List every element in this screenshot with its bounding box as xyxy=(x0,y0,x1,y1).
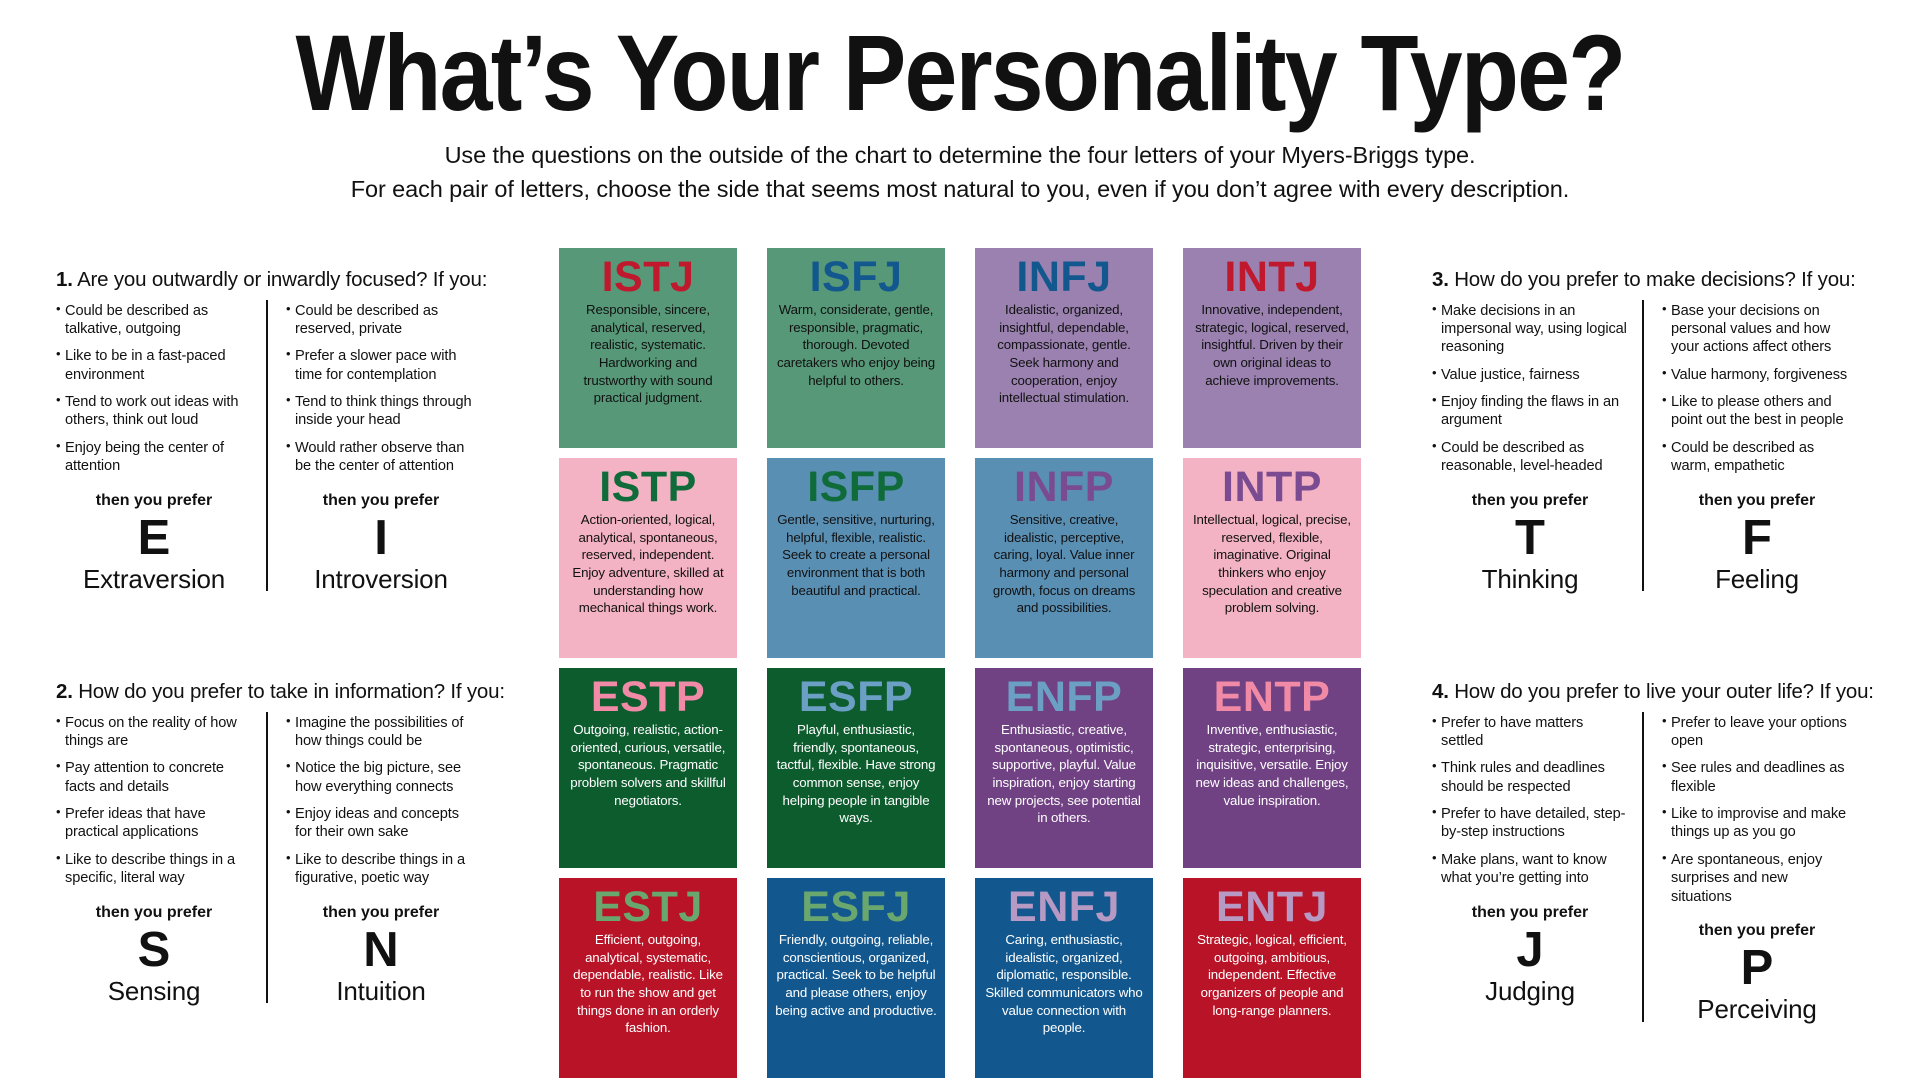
list-item: Like to be in a fast-paced environment xyxy=(56,347,252,384)
preference-word: Intuition xyxy=(286,977,476,1006)
bullet-list: Could be described as talkative, outgoin… xyxy=(56,302,252,476)
type-code: INTP xyxy=(1222,466,1322,510)
column-divider xyxy=(266,712,268,1004)
type-description: Innovative, independent, strategic, logi… xyxy=(1191,301,1353,389)
question-block-2: 2. How do you prefer to take in informat… xyxy=(56,680,476,1005)
type-description: Idealistic, organized, insightful, depen… xyxy=(983,301,1145,407)
bullet-list: Could be described as reserved, private … xyxy=(286,302,476,476)
preference-letter: T xyxy=(1432,514,1628,563)
question-number: 2. xyxy=(56,680,73,703)
list-item: Like to describe things in a specific, l… xyxy=(56,851,252,888)
bullet-list: Make decisions in an impersonal way, usi… xyxy=(1432,302,1628,476)
chart-header: What’s Your Personality Type? Use the qu… xyxy=(0,0,1920,206)
type-description: Caring, enthusiastic, idealistic, organi… xyxy=(983,931,1145,1037)
question-heading: 2. How do you prefer to take in informat… xyxy=(56,680,476,705)
question-heading: 3. How do you prefer to make decisions? … xyxy=(1432,268,1852,293)
type-code: ESFP xyxy=(799,676,913,720)
type-description: Gentle, sensitive, nurturing, helpful, f… xyxy=(775,511,937,599)
question-text: How do you prefer to live your outer lif… xyxy=(1454,680,1874,703)
preference-word: Thinking xyxy=(1432,565,1628,594)
type-description: Intellectual, logical, precise, reserved… xyxy=(1191,511,1353,617)
type-code: ESFJ xyxy=(801,886,911,930)
question-column-left[interactable]: Make decisions in an impersonal way, usi… xyxy=(1432,302,1642,594)
list-item: Like to please others and point out the … xyxy=(1662,393,1852,430)
question-number: 3. xyxy=(1432,268,1449,291)
type-card-isfj[interactable]: ISFJWarm, considerate, gentle, responsib… xyxy=(767,248,945,448)
personality-type-grid: ISTJResponsible, sincere, analytical, re… xyxy=(559,248,1361,1078)
question-number: 1. xyxy=(56,268,73,291)
preference-letter: S xyxy=(56,926,252,975)
type-description: Strategic, logical, efficient, outgoing,… xyxy=(1191,931,1353,1019)
question-text: Are you outwardly or inwardly focused? I… xyxy=(77,268,487,291)
type-code: ISTP xyxy=(599,466,697,510)
list-item: Prefer to have detailed, step-by-step in… xyxy=(1432,805,1628,842)
type-description: Responsible, sincere, analytical, reserv… xyxy=(567,301,729,407)
type-description: Outgoing, realistic, action-oriented, cu… xyxy=(567,721,729,809)
then-you-prefer-label: then you prefer xyxy=(286,492,476,510)
then-you-prefer-label: then you prefer xyxy=(1662,492,1852,510)
question-columns: Focus on the reality of how things are P… xyxy=(56,714,476,1006)
list-item: See rules and deadlines as flexible xyxy=(1662,759,1852,796)
question-column-right[interactable]: Prefer to leave your options open See ru… xyxy=(1642,714,1852,1024)
list-item: Prefer a slower pace with time for conte… xyxy=(286,347,476,384)
list-item: Think rules and deadlines should be resp… xyxy=(1432,759,1628,796)
question-block-1: 1. Are you outwardly or inwardly focused… xyxy=(56,268,476,593)
then-you-prefer-label: then you prefer xyxy=(286,904,476,922)
type-card-esfj[interactable]: ESFJFriendly, outgoing, reliable, consci… xyxy=(767,878,945,1078)
list-item: Value justice, fairness xyxy=(1432,366,1628,384)
preference-word: Feeling xyxy=(1662,565,1852,594)
type-card-enfj[interactable]: ENFJCaring, enthusiastic, idealistic, or… xyxy=(975,878,1153,1078)
question-heading: 4. How do you prefer to live your outer … xyxy=(1432,680,1852,705)
list-item: Prefer ideas that have practical applica… xyxy=(56,805,252,842)
list-item: Could be described as reserved, private xyxy=(286,302,476,339)
column-divider xyxy=(1642,300,1644,592)
type-code: INFJ xyxy=(1016,256,1111,300)
question-column-left[interactable]: Prefer to have matters settled Think rul… xyxy=(1432,714,1642,1024)
bullet-list: Base your decisions on personal values a… xyxy=(1662,302,1852,476)
list-item: Pay attention to concrete facts and deta… xyxy=(56,759,252,796)
list-item: Tend to think things through inside your… xyxy=(286,393,476,430)
preference-word: Judging xyxy=(1432,977,1628,1006)
question-column-right[interactable]: Could be described as reserved, private … xyxy=(266,302,476,594)
type-description: Friendly, outgoing, reliable, conscienti… xyxy=(775,931,937,1019)
then-you-prefer-label: then you prefer xyxy=(1432,492,1628,510)
list-item: Focus on the reality of how things are xyxy=(56,714,252,751)
type-card-infp[interactable]: INFPSensitive, creative, idealistic, per… xyxy=(975,458,1153,658)
question-text: How do you prefer to make decisions? If … xyxy=(1454,268,1855,291)
type-code: INTJ xyxy=(1224,256,1319,300)
list-item: Enjoy finding the flaws in an argument xyxy=(1432,393,1628,430)
type-card-istj[interactable]: ISTJResponsible, sincere, analytical, re… xyxy=(559,248,737,448)
then-you-prefer-label: then you prefer xyxy=(56,904,252,922)
preference-word: Sensing xyxy=(56,977,252,1006)
list-item: Could be described as talkative, outgoin… xyxy=(56,302,252,339)
then-you-prefer-label: then you prefer xyxy=(56,492,252,510)
then-you-prefer-label: then you prefer xyxy=(1432,904,1628,922)
list-item: Tend to work out ideas with others, thin… xyxy=(56,393,252,430)
list-item: Value harmony, forgiveness xyxy=(1662,366,1852,384)
list-item: Base your decisions on personal values a… xyxy=(1662,302,1852,357)
list-item: Notice the big picture, see how everythi… xyxy=(286,759,476,796)
list-item: Like to describe things in a figurative,… xyxy=(286,851,476,888)
type-description: Sensitive, creative, idealistic, percept… xyxy=(983,511,1145,617)
preference-letter: P xyxy=(1662,944,1852,993)
type-description: Action-oriented, logical, analytical, sp… xyxy=(567,511,729,617)
type-description: Enthusiastic, creative, spontaneous, opt… xyxy=(983,721,1145,827)
type-card-estp[interactable]: ESTPOutgoing, realistic, action-oriented… xyxy=(559,668,737,868)
type-code: ENFP xyxy=(1006,676,1123,720)
question-block-3: 3. How do you prefer to make decisions? … xyxy=(1432,268,1852,593)
type-card-intp[interactable]: INTPIntellectual, logical, precise, rese… xyxy=(1183,458,1361,658)
then-you-prefer-label: then you prefer xyxy=(1662,922,1852,940)
list-item: Enjoy ideas and concepts for their own s… xyxy=(286,805,476,842)
subtitle-line-2: For each pair of letters, choose the sid… xyxy=(0,173,1920,206)
list-item: Prefer to leave your options open xyxy=(1662,714,1852,751)
question-column-right[interactable]: Imagine the possibilities of how things … xyxy=(266,714,476,1006)
list-item: Make plans, want to know what you’re get… xyxy=(1432,851,1628,888)
question-text: How do you prefer to take in information… xyxy=(78,680,505,703)
bullet-list: Prefer to have matters settled Think rul… xyxy=(1432,714,1628,888)
question-block-4: 4. How do you prefer to live your outer … xyxy=(1432,680,1852,1024)
preference-word: Extraversion xyxy=(56,565,252,594)
preference-letter: J xyxy=(1432,926,1628,975)
list-item: Prefer to have matters settled xyxy=(1432,714,1628,751)
column-divider xyxy=(266,300,268,592)
type-card-entj[interactable]: ENTJStrategic, logical, efficient, outgo… xyxy=(1183,878,1361,1078)
question-number: 4. xyxy=(1432,680,1449,703)
type-description: Efficient, outgoing, analytical, systema… xyxy=(567,931,729,1037)
question-columns: Make decisions in an impersonal way, usi… xyxy=(1432,302,1852,594)
question-column-left[interactable]: Focus on the reality of how things are P… xyxy=(56,714,266,1006)
type-card-estj[interactable]: ESTJEfficient, outgoing, analytical, sys… xyxy=(559,878,737,1078)
type-card-entp[interactable]: ENTPInventive, enthusiastic, strategic, … xyxy=(1183,668,1361,868)
type-code: ENTP xyxy=(1214,676,1331,720)
list-item: Make decisions in an impersonal way, usi… xyxy=(1432,302,1628,357)
type-card-intj[interactable]: INTJInnovative, independent, strategic, … xyxy=(1183,248,1361,448)
type-code: ISFP xyxy=(807,466,905,510)
bullet-list: Imagine the possibilities of how things … xyxy=(286,714,476,888)
type-description: Warm, considerate, gentle, responsible, … xyxy=(775,301,937,389)
preference-letter: I xyxy=(286,514,476,563)
bullet-list: Prefer to leave your options open See ru… xyxy=(1662,714,1852,906)
preference-word: Introversion xyxy=(286,565,476,594)
type-code: ISFJ xyxy=(810,256,903,300)
preference-letter: N xyxy=(286,926,476,975)
list-item: Enjoy being the center of attention xyxy=(56,439,252,476)
column-divider xyxy=(1642,712,1644,1022)
question-column-right[interactable]: Base your decisions on personal values a… xyxy=(1642,302,1852,594)
type-code: ENTJ xyxy=(1216,886,1328,930)
type-card-infj[interactable]: INFJIdealistic, organized, insightful, d… xyxy=(975,248,1153,448)
list-item: Like to improvise and make things up as … xyxy=(1662,805,1852,842)
list-item: Would rather observe than be the center … xyxy=(286,439,476,476)
question-columns: Could be described as talkative, outgoin… xyxy=(56,302,476,594)
page-title: What’s Your Personality Type? xyxy=(115,0,1805,129)
personality-type-chart: What’s Your Personality Type? Use the qu… xyxy=(0,0,1920,1080)
list-item: Could be described as warm, empathetic xyxy=(1662,439,1852,476)
type-card-istp[interactable]: ISTPAction-oriented, logical, analytical… xyxy=(559,458,737,658)
type-card-enfp[interactable]: ENFPEnthusiastic, creative, spontaneous,… xyxy=(975,668,1153,868)
type-card-esfp[interactable]: ESFPPlayful, enthusiastic, friendly, spo… xyxy=(767,668,945,868)
type-code: ESTJ xyxy=(593,886,703,930)
list-item: Could be described as reasonable, level-… xyxy=(1432,439,1628,476)
question-heading: 1. Are you outwardly or inwardly focused… xyxy=(56,268,476,293)
question-columns: Prefer to have matters settled Think rul… xyxy=(1432,714,1852,1024)
type-code: ESTP xyxy=(591,676,705,720)
type-card-isfp[interactable]: ISFPGentle, sensitive, nurturing, helpfu… xyxy=(767,458,945,658)
bullet-list: Focus on the reality of how things are P… xyxy=(56,714,252,888)
list-item: Are spontaneous, enjoy surprises and new… xyxy=(1662,851,1852,906)
subtitle-line-1: Use the questions on the outside of the … xyxy=(0,139,1920,172)
preference-letter: E xyxy=(56,514,252,563)
type-code: INFP xyxy=(1014,466,1114,510)
type-description: Inventive, enthusiastic, strategic, ente… xyxy=(1191,721,1353,809)
type-code: ENFJ xyxy=(1008,886,1120,930)
chart-subtitle: Use the questions on the outside of the … xyxy=(0,139,1920,206)
type-description: Playful, enthusiastic, friendly, spontan… xyxy=(775,721,937,827)
type-code: ISTJ xyxy=(602,256,695,300)
preference-word: Perceiving xyxy=(1662,995,1852,1024)
preference-letter: F xyxy=(1662,514,1852,563)
list-item: Imagine the possibilities of how things … xyxy=(286,714,476,751)
question-column-left[interactable]: Could be described as talkative, outgoin… xyxy=(56,302,266,594)
